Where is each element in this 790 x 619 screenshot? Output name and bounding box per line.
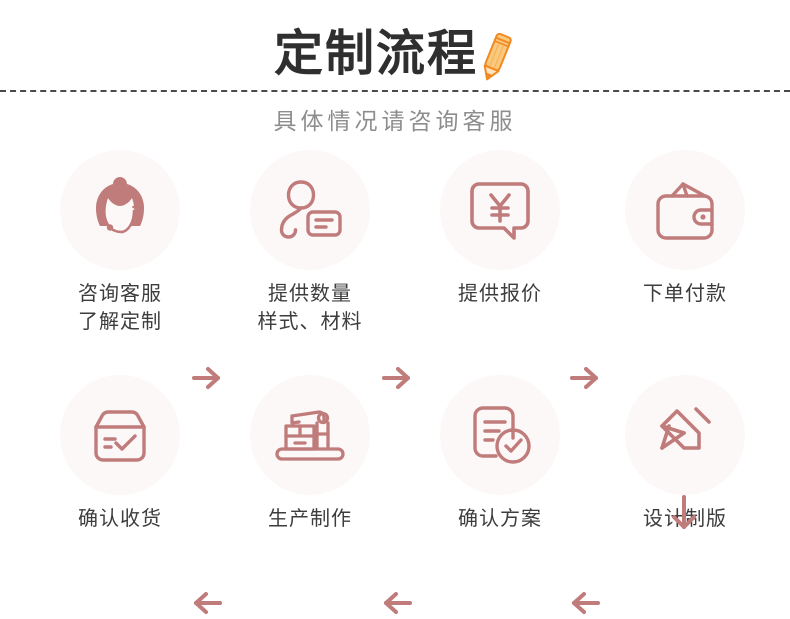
pencil-icon <box>476 28 516 84</box>
flow-step-1[interactable]: 咨询客服 了解定制 <box>35 150 205 336</box>
header-dashed-rule <box>0 90 790 92</box>
flow-step-2[interactable]: 提供数量 样式、材料 <box>225 150 395 336</box>
wallet-icon <box>645 170 725 250</box>
production-machine-icon <box>269 394 351 476</box>
page-title-wrap: 定制流程 <box>0 24 790 84</box>
flow-step-1-label-line2: 了解定制 <box>35 308 205 336</box>
flow-step-7-circle <box>250 375 370 495</box>
flow-step-1-label-line1: 咨询客服 <box>35 280 205 308</box>
flow-step-7-label-line1: 生产制作 <box>225 505 395 533</box>
package-check-icon <box>80 395 160 475</box>
flow-step-6-circle <box>440 375 560 495</box>
arrow-left-1-icon <box>568 587 602 619</box>
flow-step-4[interactable]: 下单付款 <box>600 150 770 308</box>
page-title: 定制流程 <box>274 24 478 84</box>
price-quote-bubble-icon <box>462 172 538 248</box>
arrow-right-1-icon <box>190 362 224 394</box>
flow-step-1-circle <box>60 150 180 270</box>
flow-step-4-label-line1: 下单付款 <box>600 280 770 308</box>
flow-step-6[interactable]: 确认方案 <box>415 375 585 533</box>
page-title-inner: 定制流程 <box>248 24 542 84</box>
process-flow: 咨询客服 了解定制 <box>0 150 790 600</box>
flow-step-2-label-line1: 提供数量 <box>225 280 395 308</box>
page-subtitle-wrap: 具体情况请咨询客服 <box>0 102 790 136</box>
arrow-left-2-icon <box>380 587 414 619</box>
flow-step-3-circle <box>440 150 560 270</box>
pen-nib-design-icon <box>646 396 724 474</box>
person-with-card-icon <box>270 170 350 250</box>
flow-step-8-circle <box>60 375 180 495</box>
page-header: 定制流程 <box>0 0 790 150</box>
document-check-icon <box>461 396 539 474</box>
flow-step-6-label-line1: 确认方案 <box>415 505 585 533</box>
arrow-left-3-icon <box>190 587 224 619</box>
customer-service-agent-icon <box>77 167 163 253</box>
flow-step-5-circle <box>625 375 745 495</box>
arrow-right-2-icon <box>380 362 414 394</box>
flow-step-2-circle <box>250 150 370 270</box>
flow-step-3-label-line1: 提供报价 <box>415 280 585 308</box>
flow-step-2-label-line2: 样式、材料 <box>225 308 395 336</box>
flow-step-3[interactable]: 提供报价 <box>415 150 585 308</box>
flow-step-8[interactable]: 确认收货 <box>35 375 205 533</box>
flow-step-4-circle <box>625 150 745 270</box>
arrow-right-3-icon <box>568 362 602 394</box>
arrow-down-1-icon <box>668 493 700 533</box>
flow-step-8-label-line1: 确认收货 <box>35 505 205 533</box>
page-subtitle: 具体情况请咨询客服 <box>264 108 527 134</box>
flow-step-7[interactable]: 生产制作 <box>225 375 395 533</box>
